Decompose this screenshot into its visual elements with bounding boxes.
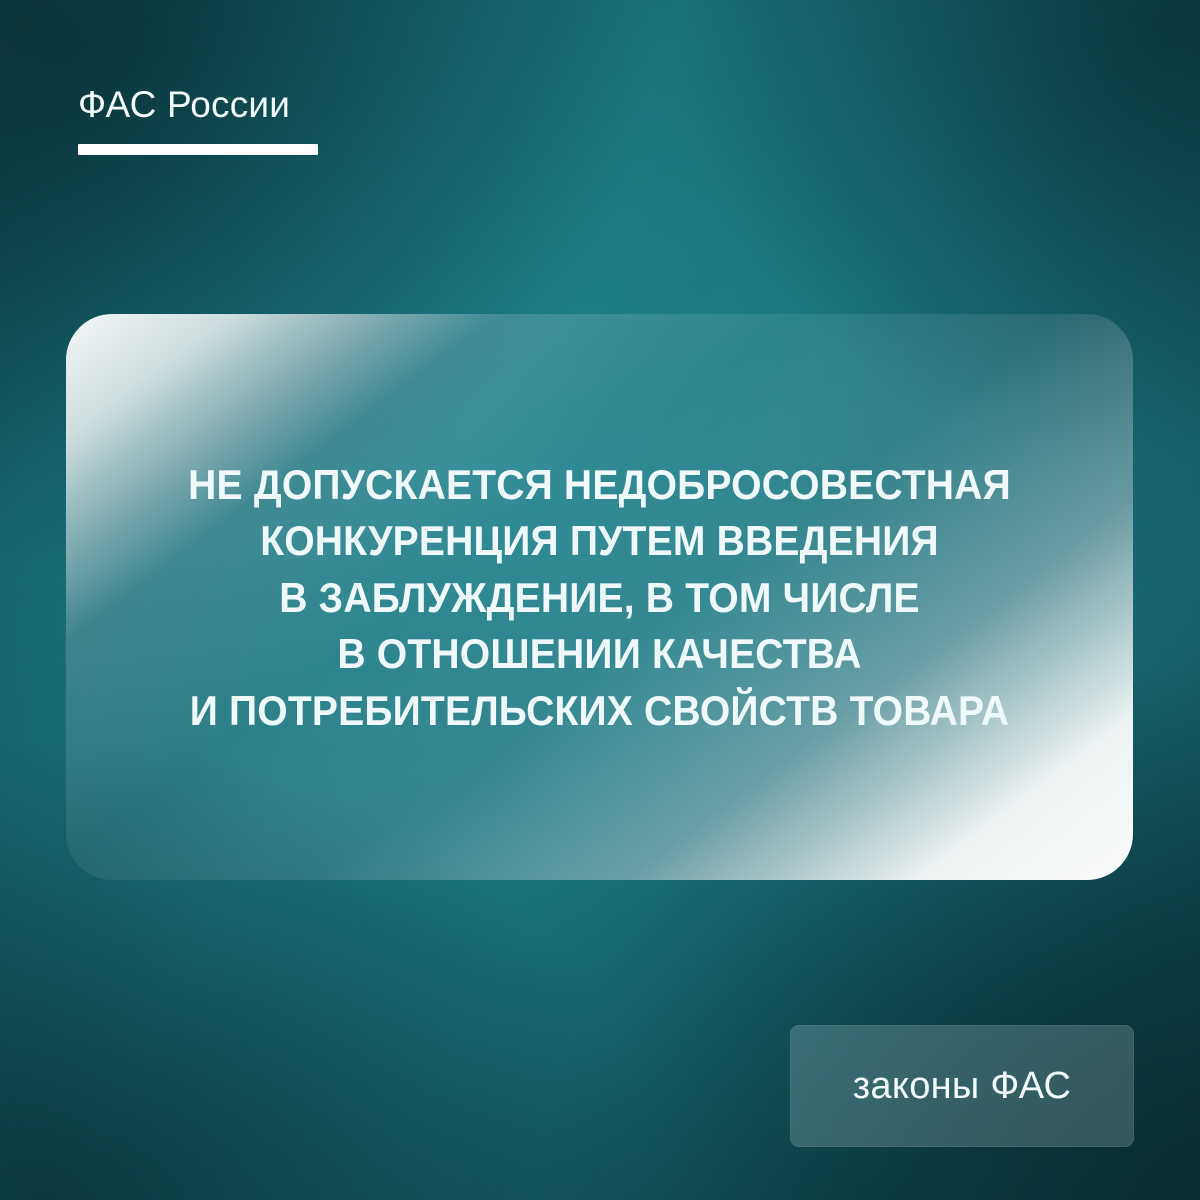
brand-name-label: ФАС России bbox=[78, 86, 318, 123]
headline-card: НЕ ДОПУСКАЕТСЯ НЕДОБРОСОВЕСТНАЯ КОНКУРЕН… bbox=[66, 314, 1133, 880]
headline-line-3: В ЗАБЛУЖДЕНИЕ, В ТОМ ЧИСЛЕ bbox=[105, 570, 1094, 627]
brand-logo: ФАС России bbox=[78, 86, 318, 155]
poster-canvas: ФАС России НЕ ДОПУСКАЕТСЯ НЕДОБРОСОВЕСТН… bbox=[0, 0, 1200, 1200]
series-tag-label: законы ФАС bbox=[853, 1067, 1072, 1105]
headline-card-inner: НЕ ДОПУСКАЕТСЯ НЕДОБРОСОВЕСТНАЯ КОНКУРЕН… bbox=[68, 316, 1131, 878]
brand-underline-rule bbox=[78, 144, 318, 155]
headline-line-2: КОНКУРЕНЦИЯ ПУТЕМ ВВЕДЕНИЯ bbox=[105, 513, 1094, 570]
headline-text-block: НЕ ДОПУСКАЕТСЯ НЕДОБРОСОВЕСТНАЯ КОНКУРЕН… bbox=[105, 457, 1094, 740]
headline-line-1: НЕ ДОПУСКАЕТСЯ НЕДОБРОСОВЕСТНАЯ bbox=[105, 457, 1094, 514]
headline-line-5: И ПОТРЕБИТЕЛЬСКИХ СВОЙСТВ ТОВАРА bbox=[105, 683, 1094, 740]
headline-line-4: В ОТНОШЕНИИ КАЧЕСТВА bbox=[105, 626, 1094, 683]
series-tag-badge: законы ФАС bbox=[790, 1025, 1134, 1147]
